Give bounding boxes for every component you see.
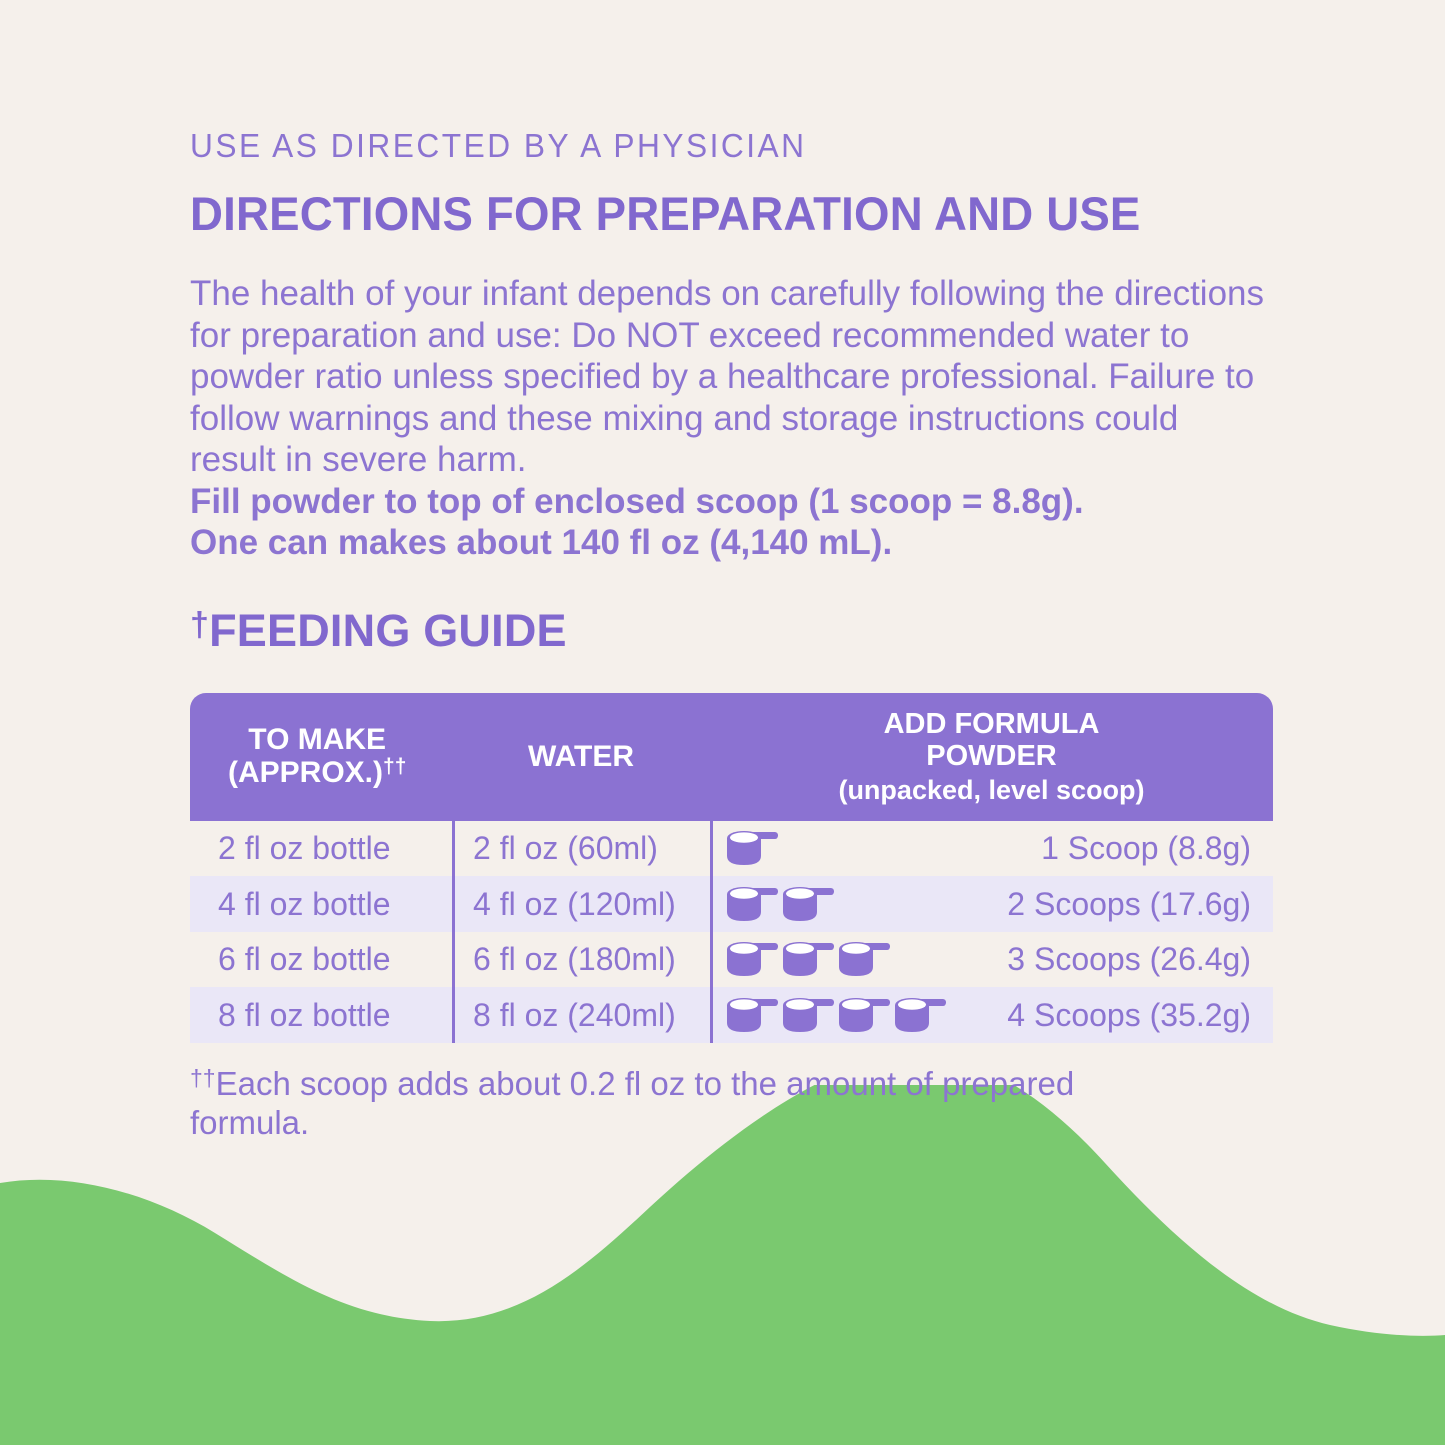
measuring-scoop-icon (779, 992, 837, 1038)
cell-water: 2 fl oz (60ml) (452, 821, 710, 877)
table-header-row: TO MAKE (APPROX.)†† WATER ADD FORMULA PO… (190, 693, 1273, 821)
cell-to-make: 4 fl oz bottle (190, 876, 452, 932)
footnote-text: Each scoop adds about 0.2 fl oz to the a… (190, 1065, 1074, 1141)
column-header-powder-line1: ADD FORMULA (884, 708, 1100, 740)
table-row: 4 fl oz bottle4 fl oz (120ml)2 Scoops (1… (190, 876, 1273, 932)
table-row: 2 fl oz bottle2 fl oz (60ml)1 Scoop (8.8… (190, 821, 1273, 877)
table-row: 8 fl oz bottle8 fl oz (240ml)4 Scoops (3… (190, 987, 1273, 1043)
scoop-count-label: 2 Scoops (17.6g) (1007, 888, 1251, 920)
scoop-icon-group (723, 876, 835, 932)
measuring-scoop-icon (835, 936, 893, 982)
scoop-icon-group (723, 821, 779, 877)
column-header-to-make: TO MAKE (APPROX.)†† (190, 693, 452, 821)
measuring-scoop-icon (723, 936, 781, 982)
scoop-volume-footnote: ††Each scoop adds about 0.2 fl oz to the… (190, 1059, 1150, 1142)
eyebrow-text: USE AS DIRECTED BY A PHYSICIAN (190, 128, 1265, 164)
footnote-marker: †† (190, 1065, 216, 1091)
label-panel: USE AS DIRECTED BY A PHYSICIAN DIRECTION… (0, 0, 1445, 1445)
measuring-scoop-icon (779, 881, 837, 927)
measuring-scoop-icon (723, 825, 781, 871)
column-header-water: WATER (452, 693, 710, 821)
directions-paragraph: The health of your infant depends on car… (190, 273, 1270, 481)
feeding-guide-heading-text: FEEDING GUIDE (209, 605, 567, 656)
cell-to-make: 2 fl oz bottle (190, 821, 452, 877)
column-header-to-make-footnote-marker: †† (383, 755, 406, 778)
scoop-weight-line: Fill powder to top of enclosed scoop (1 … (190, 481, 1270, 523)
measuring-scoop-icon (891, 992, 949, 1038)
cell-water: 8 fl oz (240ml) (452, 987, 710, 1043)
column-header-add-formula-powder: ADD FORMULA POWDER (unpacked, level scoo… (710, 693, 1273, 821)
dagger-symbol: † (190, 606, 209, 644)
cell-add-powder: 1 Scoop (8.8g) (710, 821, 1273, 877)
measuring-scoop-icon (723, 992, 781, 1038)
scoop-count-label: 3 Scoops (26.4g) (1007, 943, 1251, 975)
column-header-powder-line2: POWDER (926, 740, 1057, 772)
cell-add-powder: 4 Scoops (35.2g) (710, 987, 1273, 1043)
cell-water: 4 fl oz (120ml) (452, 876, 710, 932)
column-header-to-make-line1: TO MAKE (248, 723, 386, 756)
column-header-to-make-line2: (APPROX.) (228, 756, 383, 789)
measuring-scoop-icon (835, 992, 893, 1038)
column-header-powder-subtitle: (unpacked, level scoop) (838, 775, 1144, 805)
measuring-scoop-icon (779, 936, 837, 982)
page-title: DIRECTIONS FOR PREPARATION AND USE (190, 186, 1276, 241)
cell-to-make: 6 fl oz bottle (190, 932, 452, 988)
directions-paragraph-block: The health of your infant depends on car… (190, 273, 1270, 564)
cell-water: 6 fl oz (180ml) (452, 932, 710, 988)
scoop-count-label: 4 Scoops (35.2g) (1007, 999, 1251, 1031)
content-column: USE AS DIRECTED BY A PHYSICIAN DIRECTION… (190, 128, 1310, 1142)
measuring-scoop-icon (723, 881, 781, 927)
cell-to-make: 8 fl oz bottle (190, 987, 452, 1043)
table-row: 6 fl oz bottle6 fl oz (180ml)3 Scoops (2… (190, 932, 1273, 988)
cell-add-powder: 3 Scoops (26.4g) (710, 932, 1273, 988)
scoop-icon-group (723, 932, 891, 988)
feeding-guide-heading: †FEEDING GUIDE (190, 606, 1310, 656)
scoop-icon-group (723, 987, 947, 1043)
table-body: 2 fl oz bottle2 fl oz (60ml)1 Scoop (8.8… (190, 821, 1273, 1043)
can-yield-line: One can makes about 140 fl oz (4,140 mL)… (190, 522, 1270, 564)
scoop-count-label: 1 Scoop (8.8g) (1041, 832, 1251, 864)
feeding-guide-table: TO MAKE (APPROX.)†† WATER ADD FORMULA PO… (190, 693, 1273, 1043)
cell-add-powder: 2 Scoops (17.6g) (710, 876, 1273, 932)
